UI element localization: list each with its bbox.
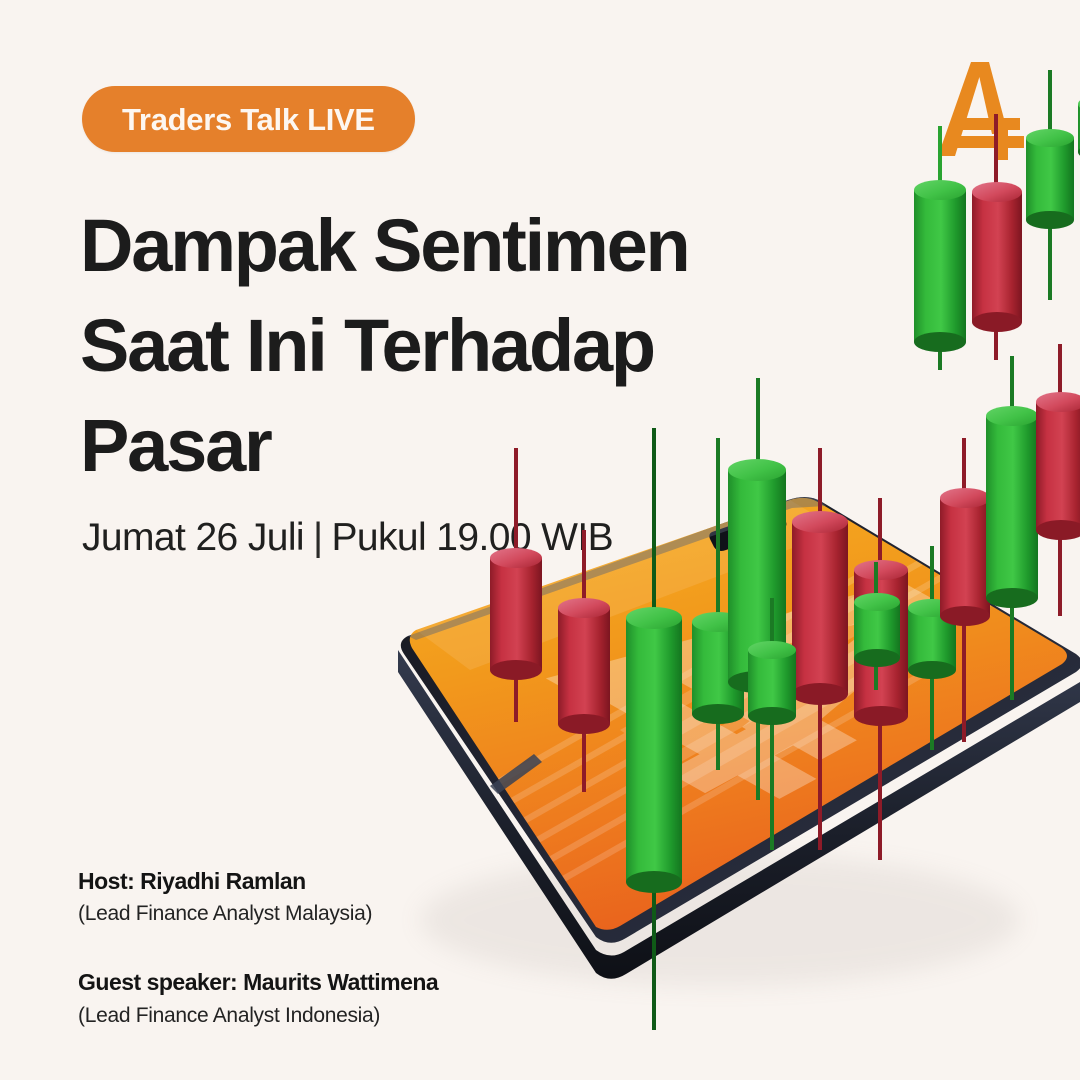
candle-16 — [1026, 70, 1074, 300]
live-badge: Traders Talk LIVE — [82, 86, 415, 152]
candle-15 — [972, 114, 1022, 360]
candle-14 — [914, 126, 966, 370]
host-role: (Lead Finance Analyst Malaysia) — [78, 899, 548, 929]
guest-credit: Guest speaker: Maurits Wattimena (Lead F… — [78, 967, 548, 1030]
guest-role: (Lead Finance Analyst Indonesia) — [78, 1001, 548, 1031]
guest-name: Guest speaker: Maurits Wattimena — [78, 967, 548, 998]
credits-block: Host: Riyadhi Ramlan (Lead Finance Analy… — [78, 866, 548, 1031]
live-badge-label: Traders Talk LIVE — [122, 104, 375, 135]
host-name: Host: Riyadhi Ramlan — [78, 866, 548, 897]
candlestick-series-upper — [850, 40, 1080, 370]
host-credit: Host: Riyadhi Ramlan (Lead Finance Analy… — [78, 866, 548, 929]
headline-line-1: Dampak Sentimen — [80, 196, 840, 296]
promo-card: Traders Talk LIVE Dampak Sentimen Saat I… — [0, 0, 1080, 1080]
candle-13 — [1036, 344, 1080, 616]
schedule-date: Jumat 26 Juli — [82, 516, 304, 559]
